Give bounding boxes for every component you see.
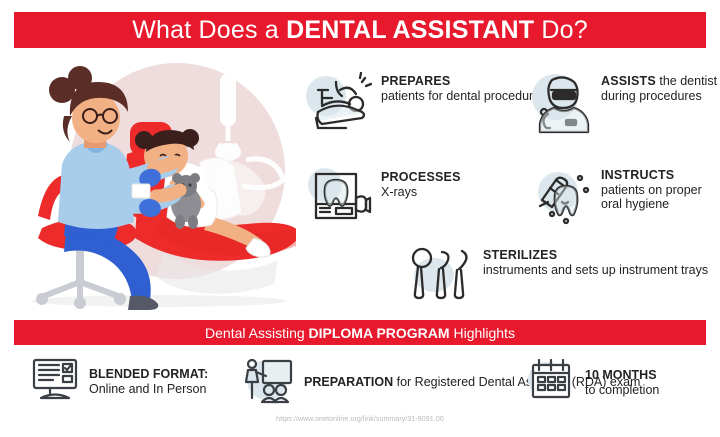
duty-sterilizes-strong: STERILIZES xyxy=(483,248,557,262)
dental-chair-lamp-icon xyxy=(310,72,372,139)
highlight-preparation-strong: PREPARATION xyxy=(304,375,393,389)
highlight-duration: 10 MONTHS to completion xyxy=(528,356,659,409)
mid-suffix: Highlights xyxy=(450,325,515,341)
duty-instructs-strong: INSTRUCTS xyxy=(601,168,674,182)
classroom-presentation-icon xyxy=(243,356,295,409)
mid-prefix: Dental Assisting xyxy=(205,325,309,341)
highlight-blended-text: BLENDED FORMAT: Online and In Person xyxy=(89,367,208,397)
source-url[interactable]: https://www.onetonline.org/link/summary/… xyxy=(0,416,720,423)
dental-assistant-treating-child-illustration xyxy=(14,56,296,312)
duty-processes-strong: PROCESSES xyxy=(381,170,461,184)
duty-assists-strong: ASSISTS xyxy=(601,74,656,88)
dental-worker-mask-icon xyxy=(536,72,592,139)
toothbrush-tooth-icon xyxy=(536,166,592,231)
highlight-blended-strong: BLENDED FORMAT: xyxy=(89,367,208,381)
duty-sterilizes-rest: instruments and sets up instrument trays xyxy=(483,263,708,277)
duty-prepares-strong: PREPARES xyxy=(381,74,450,88)
calendar-icon xyxy=(528,356,576,409)
title-suffix: Do? xyxy=(534,16,588,44)
highlight-duration-text: 10 MONTHS to completion xyxy=(585,368,659,398)
duty-prepares: PREPARES patients for dental procedures xyxy=(310,72,546,139)
title-emphasis: DENTAL ASSISTANT xyxy=(286,16,534,44)
page-title: What Does a DENTAL ASSISTANT Do? xyxy=(132,16,588,45)
infographic-page: What Does a DENTAL ASSISTANT Do? xyxy=(0,0,720,437)
duty-assists-text: ASSISTS the dentist during procedures xyxy=(601,72,720,103)
program-highlights-title: Dental Assisting DIPLOMA PROGRAM Highlig… xyxy=(205,325,515,341)
duty-sterilizes-text: STERILIZES instruments and sets up instr… xyxy=(483,246,708,277)
highlight-blended-format: BLENDED FORMAT: Online and In Person xyxy=(30,356,208,407)
title-prefix: What Does a xyxy=(132,16,286,44)
title-banner: What Does a DENTAL ASSISTANT Do? xyxy=(14,12,706,48)
computer-monitor-icon xyxy=(30,356,80,407)
dental-instruments-icon xyxy=(408,246,474,309)
duty-prepares-rest: patients for dental procedures xyxy=(381,89,546,103)
highlight-duration-rest: to completion xyxy=(585,383,659,397)
duty-instructs-rest: patients on proper oral hygiene xyxy=(601,183,702,212)
duty-instructs-text: INSTRUCTS patients on proper oral hygien… xyxy=(601,166,720,212)
mid-emphasis: DIPLOMA PROGRAM xyxy=(309,325,450,341)
duty-assists: ASSISTS the dentist during procedures xyxy=(536,72,720,139)
duty-prepares-text: PREPARES patients for dental procedures xyxy=(381,72,546,103)
duty-instructs: INSTRUCTS patients on proper oral hygien… xyxy=(536,166,720,231)
highlight-blended-rest: Online and In Person xyxy=(89,382,206,396)
highlight-duration-strong: 10 MONTHS xyxy=(585,368,657,382)
program-highlights-banner: Dental Assisting DIPLOMA PROGRAM Highlig… xyxy=(14,320,706,345)
xray-machine-tooth-icon xyxy=(310,168,372,231)
duty-processes-rest: X-rays xyxy=(381,185,417,199)
duty-processes: PROCESSES X-rays xyxy=(310,168,461,231)
duty-sterilizes: STERILIZES instruments and sets up instr… xyxy=(408,246,708,309)
duty-processes-text: PROCESSES X-rays xyxy=(381,168,461,199)
